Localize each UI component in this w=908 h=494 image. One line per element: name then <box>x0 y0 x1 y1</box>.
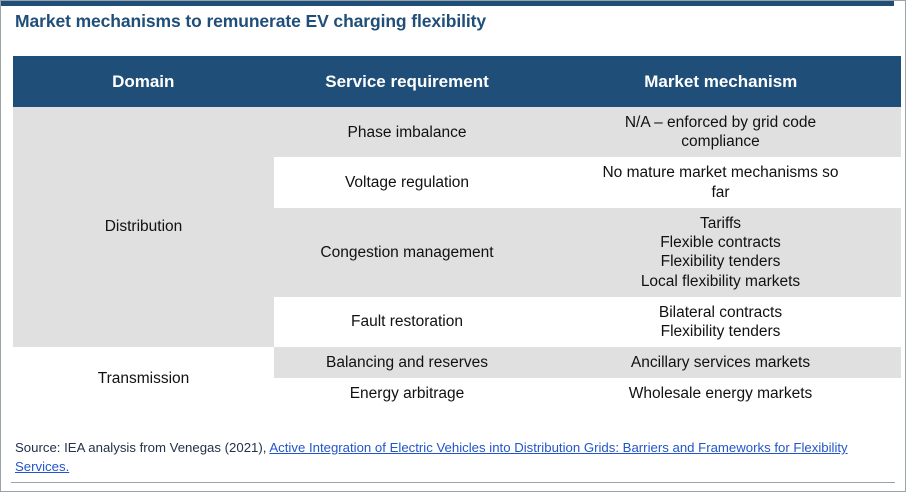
domain-cell-distribution: Distribution <box>13 107 274 347</box>
service-cell: Phase imbalance <box>274 107 540 157</box>
mechanism-line: Flexible contracts <box>548 233 893 252</box>
service-cell: Energy arbitrage <box>274 378 540 409</box>
bottom-rule <box>11 482 895 483</box>
column-header-service-requirement: Service requirement <box>274 56 540 107</box>
service-cell: Balancing and reserves <box>274 347 540 378</box>
column-header-domain: Domain <box>13 56 274 107</box>
mechanism-cell: Ancillary services markets <box>540 347 901 378</box>
table-row: Distribution Phase imbalance N/A – enfor… <box>13 107 901 157</box>
mechanism-line: Bilateral contracts <box>548 303 893 322</box>
table-row: Transmission Balancing and reserves Anci… <box>13 347 901 378</box>
page-title: Market mechanisms to remunerate EV charg… <box>15 11 486 32</box>
table-container: Domain Service requirement Market mechan… <box>13 56 901 410</box>
mechanism-cell: No mature market mechanisms so far <box>540 157 901 207</box>
mechanism-line: compliance <box>548 132 893 151</box>
column-header-market-mechanism: Market mechanism <box>540 56 901 107</box>
mechanism-cell: Tariffs Flexible contracts Flexibility t… <box>540 208 901 297</box>
service-cell: Voltage regulation <box>274 157 540 207</box>
mechanism-line: N/A – enforced by grid code <box>548 113 893 132</box>
source-prefix: Source: IEA analysis from Venegas (2021)… <box>15 440 269 455</box>
source-note: Source: IEA analysis from Venegas (2021)… <box>15 438 891 476</box>
mechanism-line: far <box>548 183 893 202</box>
mechanism-line: Wholesale energy markets <box>548 384 893 403</box>
table-header: Domain Service requirement Market mechan… <box>13 56 901 107</box>
mechanism-line: Tariffs <box>548 214 893 233</box>
service-cell: Congestion management <box>274 208 540 297</box>
mechanism-line: Local flexibility markets <box>548 272 893 291</box>
market-mechanisms-table: Domain Service requirement Market mechan… <box>13 56 901 410</box>
mechanism-line: No mature market mechanisms so <box>548 163 893 182</box>
mechanism-line: Ancillary services markets <box>548 353 893 372</box>
table-body: Distribution Phase imbalance N/A – enfor… <box>13 107 901 410</box>
figure-container: Market mechanisms to remunerate EV charg… <box>0 0 906 492</box>
top-accent-rule <box>1 1 894 6</box>
mechanism-cell: Wholesale energy markets <box>540 378 901 409</box>
domain-cell-transmission: Transmission <box>13 347 274 409</box>
table-header-row: Domain Service requirement Market mechan… <box>13 56 901 107</box>
mechanism-cell: Bilateral contracts Flexibility tenders <box>540 297 901 347</box>
mechanism-cell: N/A – enforced by grid code compliance <box>540 107 901 157</box>
service-cell: Fault restoration <box>274 297 540 347</box>
mechanism-line: Flexibility tenders <box>548 322 893 341</box>
mechanism-line: Flexibility tenders <box>548 252 893 271</box>
